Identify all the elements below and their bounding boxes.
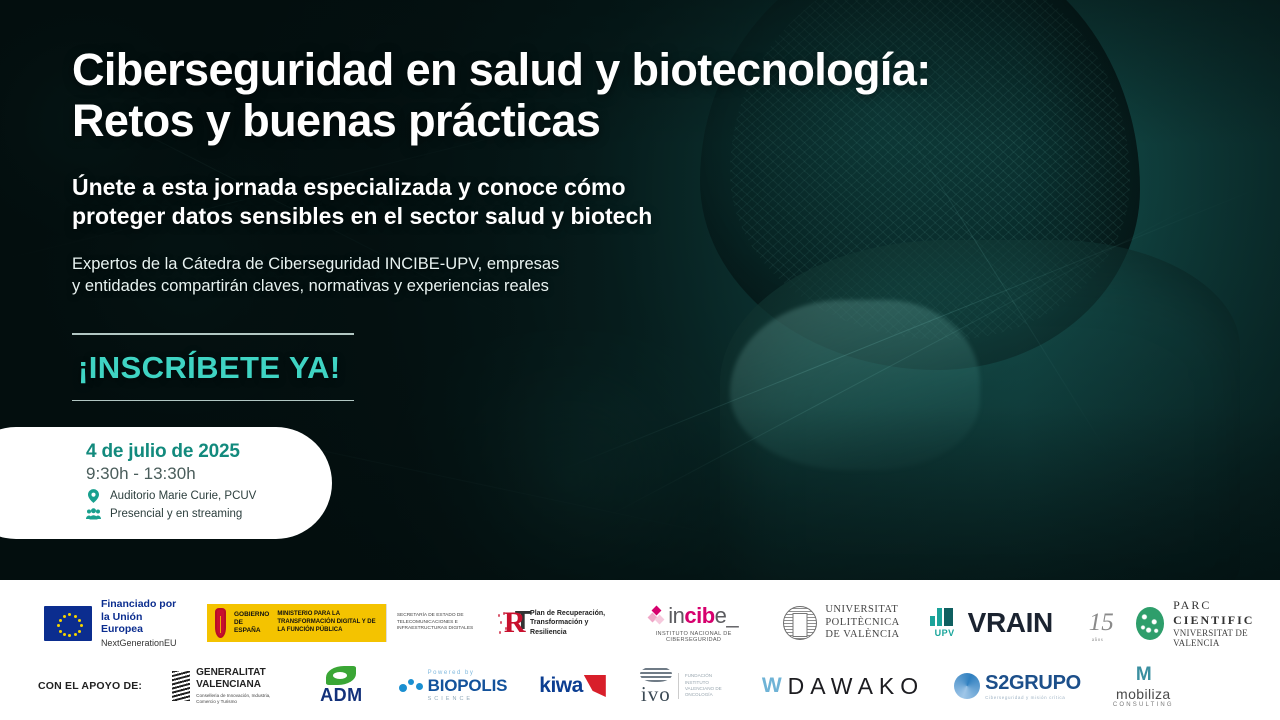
cientific-word: CIENTIFIC — [1173, 613, 1254, 627]
biopolis-wordmark: BIOPOLIS — [428, 676, 508, 696]
ivo-wordmark: ivo — [640, 682, 672, 707]
people-group-icon — [86, 508, 101, 520]
vrain-upv-label: UPV — [930, 628, 960, 638]
kiwa-flag-icon — [584, 675, 606, 697]
parc-cientific-circle-icon — [1136, 607, 1164, 640]
gobierno-yellow-block: GOBIERNO DE ESPAÑA MINISTERIO PARA LA TR… — [207, 604, 386, 642]
dawako-mark-icon: W — [762, 674, 780, 698]
description-line-1: Expertos de la Cátedra de Ciberseguridad… — [72, 253, 1052, 275]
gobierno-text: GOBIERNO DE ESPAÑA — [234, 611, 269, 635]
event-format-row: Presencial y en streaming — [86, 508, 332, 520]
generalitat-line-2: VALENCIANA — [196, 679, 286, 691]
ivo-group: ivo — [640, 666, 672, 707]
plan-letter-r: R — [504, 608, 526, 638]
logo-mobiliza-consulting: M mobiliza CONSULTING — [1113, 664, 1174, 708]
mobiliza-sub: CONSULTING — [1113, 702, 1174, 708]
event-location-text: Auditorio Marie Curie, PCUV — [110, 490, 256, 502]
logo-vrain: UPV VRAIN — [930, 607, 1053, 639]
eu-stars — [44, 606, 92, 641]
title-line-2: Retos y buenas prácticas — [72, 95, 1052, 146]
gobierno-line-2: DE ESPAÑA — [234, 619, 269, 635]
register-now-label[interactable]: ¡INSCRÍBETE YA! — [72, 335, 354, 400]
anniversary-caption: años — [1092, 638, 1104, 643]
secretariat-block: SECRETARÍA DE ESTADO DE TELECOMUNICACION… — [386, 604, 478, 642]
vrain-bars — [930, 608, 960, 626]
supporter-logo-row: CON EL APOYO DE: GENERALITAT VALENCIANA … — [38, 664, 1174, 708]
incibe-e: e_ — [715, 603, 738, 628]
vrain-wordmark: VRAIN — [968, 607, 1053, 639]
logo-ivo: ivo FUNDACIÓN INSTITUTO VALENCIANO DE ON… — [640, 666, 730, 707]
logo-parc-cientific-uv: PARC CIENTIFIC VNIVERSITAT DE VALENCIA — [1136, 598, 1280, 648]
subtitle-line-2: proteger datos sensibles en el sector sa… — [72, 202, 1052, 231]
event-date: 4 de julio de 2025 — [86, 441, 332, 463]
parc-cientific-text: PARC CIENTIFIC VNIVERSITAT DE VALENCIA — [1173, 598, 1280, 648]
logo-fifteen-years: 15 años — [1089, 609, 1114, 637]
s2grupo-mark-icon — [954, 673, 980, 699]
logo-gobierno-de-espana: GOBIERNO DE ESPAÑA MINISTERIO PARA LA TR… — [207, 604, 478, 642]
spain-coat-of-arms-icon — [215, 608, 226, 638]
event-poster: Ciberseguridad en salud y biotecnología:… — [0, 0, 1280, 720]
plan-recuperacion-icon: T R — [498, 606, 523, 640]
map-pin-icon — [86, 489, 101, 503]
gobierno-line-1: GOBIERNO — [234, 611, 269, 619]
eu-line-2: la Unión Europea — [101, 611, 181, 636]
s2grupo-wordmark: S2GRUPO — [985, 672, 1081, 695]
logo-adm: ADM — [320, 666, 363, 706]
page-description: Expertos de la Cátedra de Ciberseguridad… — [72, 253, 1052, 297]
hero-text-block: Ciberseguridad en salud y biotecnología:… — [72, 44, 1052, 297]
upv-line-1: UNIVERSITAT — [825, 604, 899, 617]
generalitat-line-3: Conselleria de Innovación, Industria, Co… — [196, 693, 286, 705]
incibe-cib: cib — [684, 603, 714, 628]
eu-line-1: Financiado por — [101, 598, 181, 610]
logo-european-union: Financiado por la Unión Europea NextGene… — [44, 598, 181, 647]
vrain-mark-icon: UPV — [930, 608, 960, 638]
page-subtitle: Únete a esta jornada especializada y con… — [72, 173, 1052, 231]
upv-line-3: DE VALÈNCIA — [825, 629, 899, 642]
event-location-row: Auditorio Marie Curie, PCUV — [86, 489, 332, 503]
s2grupo-sub: Ciberseguridad y misión crítica — [985, 695, 1081, 700]
ministry-text: MINISTERIO PARA LA TRANSFORMACIÓN DIGITA… — [277, 611, 377, 634]
subtitle-line-1: Únete a esta jornada especializada y con… — [72, 173, 1052, 202]
mobiliza-wordmark: mobiliza — [1116, 686, 1171, 702]
generalitat-crest-icon — [172, 671, 190, 701]
parc-word: PARC — [1173, 598, 1211, 612]
generalitat-line-1: GENERALITAT — [196, 667, 286, 679]
upv-line-2: POLITÈCNICA — [825, 617, 899, 630]
upv-seal-icon — [783, 606, 817, 640]
biopolis-sub: SCIENCE — [428, 696, 508, 702]
secretariat-text: SECRETARÍA DE ESTADO DE TELECOMUNICACION… — [397, 613, 478, 632]
dawako-wordmark: DAWAKO — [788, 673, 925, 700]
logo-universitat-politecnica-de-valencia: UNIVERSITAT POLITÈCNICA DE VALÈNCIA — [783, 604, 899, 642]
event-time: 9:30h - 13:30h — [86, 464, 332, 484]
sponsor-footer: Financiado por la Unión Europea NextGene… — [0, 580, 1280, 720]
ivo-mark-icon — [640, 666, 672, 682]
support-label: CON EL APOYO DE: — [38, 680, 142, 692]
logo-s2grupo: S2GRUPO Ciberseguridad y misión crítica — [954, 672, 1081, 700]
logo-dawako: W DAWAKO — [762, 673, 924, 700]
s2grupo-text: S2GRUPO Ciberseguridad y misión crítica — [985, 672, 1081, 700]
logo-incibe: incibe_ INSTITUTO NACIONAL DE CIBERSEGUR… — [636, 603, 751, 643]
logo-kiwa: kiwa — [539, 674, 606, 698]
event-format-text: Presencial y en streaming — [110, 508, 242, 520]
title-line-1: Ciberseguridad en salud y biotecnología: — [72, 44, 1052, 95]
cta-block[interactable]: ¡INSCRÍBETE YA! — [72, 333, 354, 401]
logo-plan-de-recuperacion: T R Plan de Recuperación, Transformación… — [498, 606, 606, 640]
plan-recuperacion-text: Plan de Recuperación, Transformación y R… — [530, 609, 606, 637]
eu-text-block: Financiado por la Unión Europea NextGene… — [101, 598, 181, 647]
kiwa-wordmark: kiwa — [539, 674, 583, 698]
biopolis-mark-icon — [399, 678, 423, 694]
adm-leaf-icon — [326, 666, 356, 685]
adm-wordmark: ADM — [320, 685, 363, 706]
incibe-diamonds-icon — [649, 607, 663, 625]
ivo-foundation-text: FUNDACIÓN INSTITUTO VALENCIANO DE ONCOLO… — [678, 673, 730, 699]
eu-line-3: NextGenerationEU — [101, 638, 181, 648]
funder-logo-row: Financiado por la Unión Europea NextGene… — [44, 598, 1280, 648]
generalitat-text: GENERALITAT VALENCIANA Conselleria de In… — [196, 667, 286, 705]
parc-cientific-line-1: PARC CIENTIFIC — [1173, 598, 1280, 628]
mobiliza-mark-icon: M — [1136, 664, 1151, 686]
incibe-word: incibe_ — [668, 603, 738, 629]
incibe-wordmark: incibe_ — [649, 603, 738, 629]
parc-cientific-line-2: VNIVERSITAT DE VALENCIA — [1173, 628, 1280, 648]
upv-text-block: UNIVERSITAT POLITÈCNICA DE VALÈNCIA — [825, 604, 899, 642]
logo-biopolis-science: Powered by BIOPOLIS SCIENCE — [399, 670, 508, 702]
event-info-card: 4 de julio de 2025 9:30h - 13:30h Audito… — [0, 427, 332, 539]
description-line-2: y entidades compartirán claves, normativ… — [72, 275, 1052, 297]
cta-divider-bottom — [72, 400, 354, 402]
page-title: Ciberseguridad en salud y biotecnología:… — [72, 44, 1052, 147]
eu-flag-icon — [44, 606, 92, 641]
incibe-in: in — [668, 603, 684, 628]
logo-generalitat-valenciana: GENERALITAT VALENCIANA Conselleria de In… — [172, 667, 286, 705]
biopolis-text: Powered by BIOPOLIS SCIENCE — [428, 670, 508, 702]
incibe-subtitle: INSTITUTO NACIONAL DE CIBERSEGURIDAD — [636, 631, 751, 643]
anniversary-number: 15 — [1089, 609, 1114, 637]
